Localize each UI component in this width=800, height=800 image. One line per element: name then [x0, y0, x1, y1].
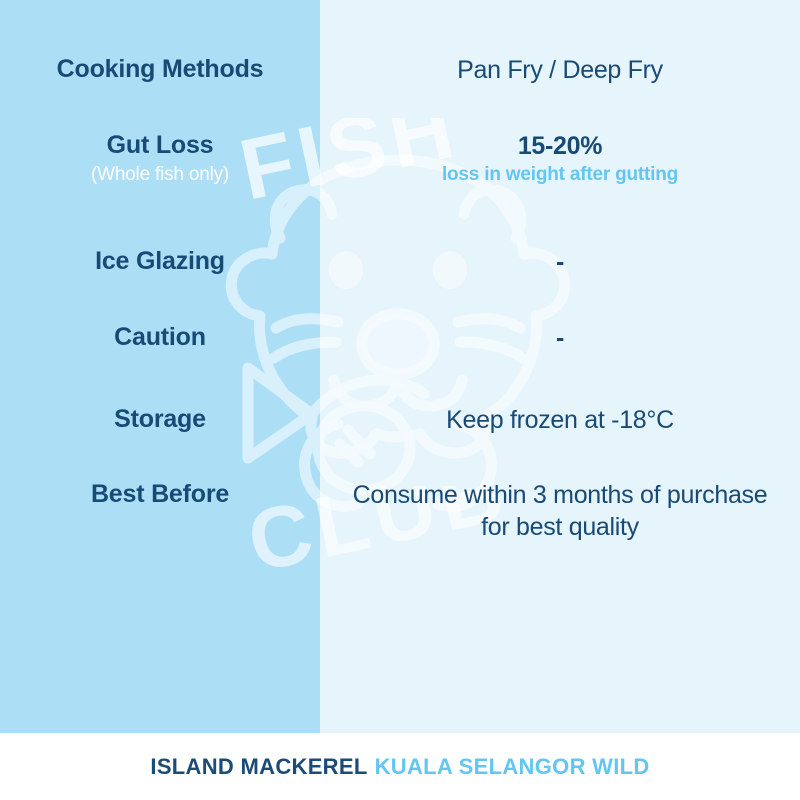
- spec-table: Cooking Methods Pan Fry / Deep Fry Gut L…: [0, 0, 800, 733]
- table-row: Caution -: [0, 322, 800, 354]
- table-row: Gut Loss (Whole fish only) 15-20% loss i…: [0, 130, 800, 187]
- table-row: Cooking Methods Pan Fry / Deep Fry: [0, 54, 800, 86]
- row-value-storage: Keep frozen at -18°C: [320, 404, 800, 436]
- row-label-caution: Caution: [0, 322, 320, 352]
- label-subtext: (Whole fish only): [14, 162, 306, 187]
- row-value-best-before: Consume within 3 months of purchase for …: [320, 479, 800, 543]
- value-text: -: [556, 324, 564, 352]
- value-subtext: loss in weight after gutting: [342, 163, 778, 187]
- label-text: Ice Glazing: [95, 247, 225, 275]
- row-value-cooking-methods: Pan Fry / Deep Fry: [320, 54, 800, 86]
- row-label-best-before: Best Before: [0, 479, 320, 509]
- row-label-cooking-methods: Cooking Methods: [0, 54, 320, 84]
- table-row: Storage Keep frozen at -18°C: [0, 404, 800, 436]
- row-value-ice-glazing: -: [320, 246, 800, 278]
- footer-brand-name: ISLAND MACKEREL: [150, 754, 367, 779]
- value-text: 15-20%: [518, 132, 602, 160]
- value-text: Consume within 3 months of purchase for …: [353, 481, 768, 541]
- table-row: Best Before Consume within 3 months of p…: [0, 479, 800, 543]
- label-text: Storage: [114, 405, 206, 433]
- label-text: Gut Loss: [107, 131, 214, 159]
- label-text: Cooking Methods: [57, 55, 264, 83]
- row-label-storage: Storage: [0, 404, 320, 434]
- row-value-caution: -: [320, 322, 800, 354]
- label-text: Caution: [114, 323, 206, 351]
- value-text: Keep frozen at -18°C: [446, 406, 674, 434]
- table-row: Ice Glazing -: [0, 246, 800, 278]
- value-text: Pan Fry / Deep Fry: [457, 56, 663, 84]
- product-footer: ISLAND MACKERELKUALA SELANGOR WILD: [0, 733, 800, 800]
- row-value-gut-loss: 15-20% loss in weight after gutting: [320, 130, 800, 187]
- footer-title: ISLAND MACKERELKUALA SELANGOR WILD: [150, 754, 649, 780]
- product-spec-card: FISH CLUB Cooking Methods Pan Fry / Deep…: [0, 0, 800, 800]
- row-label-gut-loss: Gut Loss (Whole fish only): [0, 130, 320, 187]
- row-label-ice-glazing: Ice Glazing: [0, 246, 320, 276]
- footer-origin: KUALA SELANGOR WILD: [375, 754, 650, 779]
- label-text: Best Before: [91, 480, 229, 508]
- value-text: -: [556, 248, 564, 276]
